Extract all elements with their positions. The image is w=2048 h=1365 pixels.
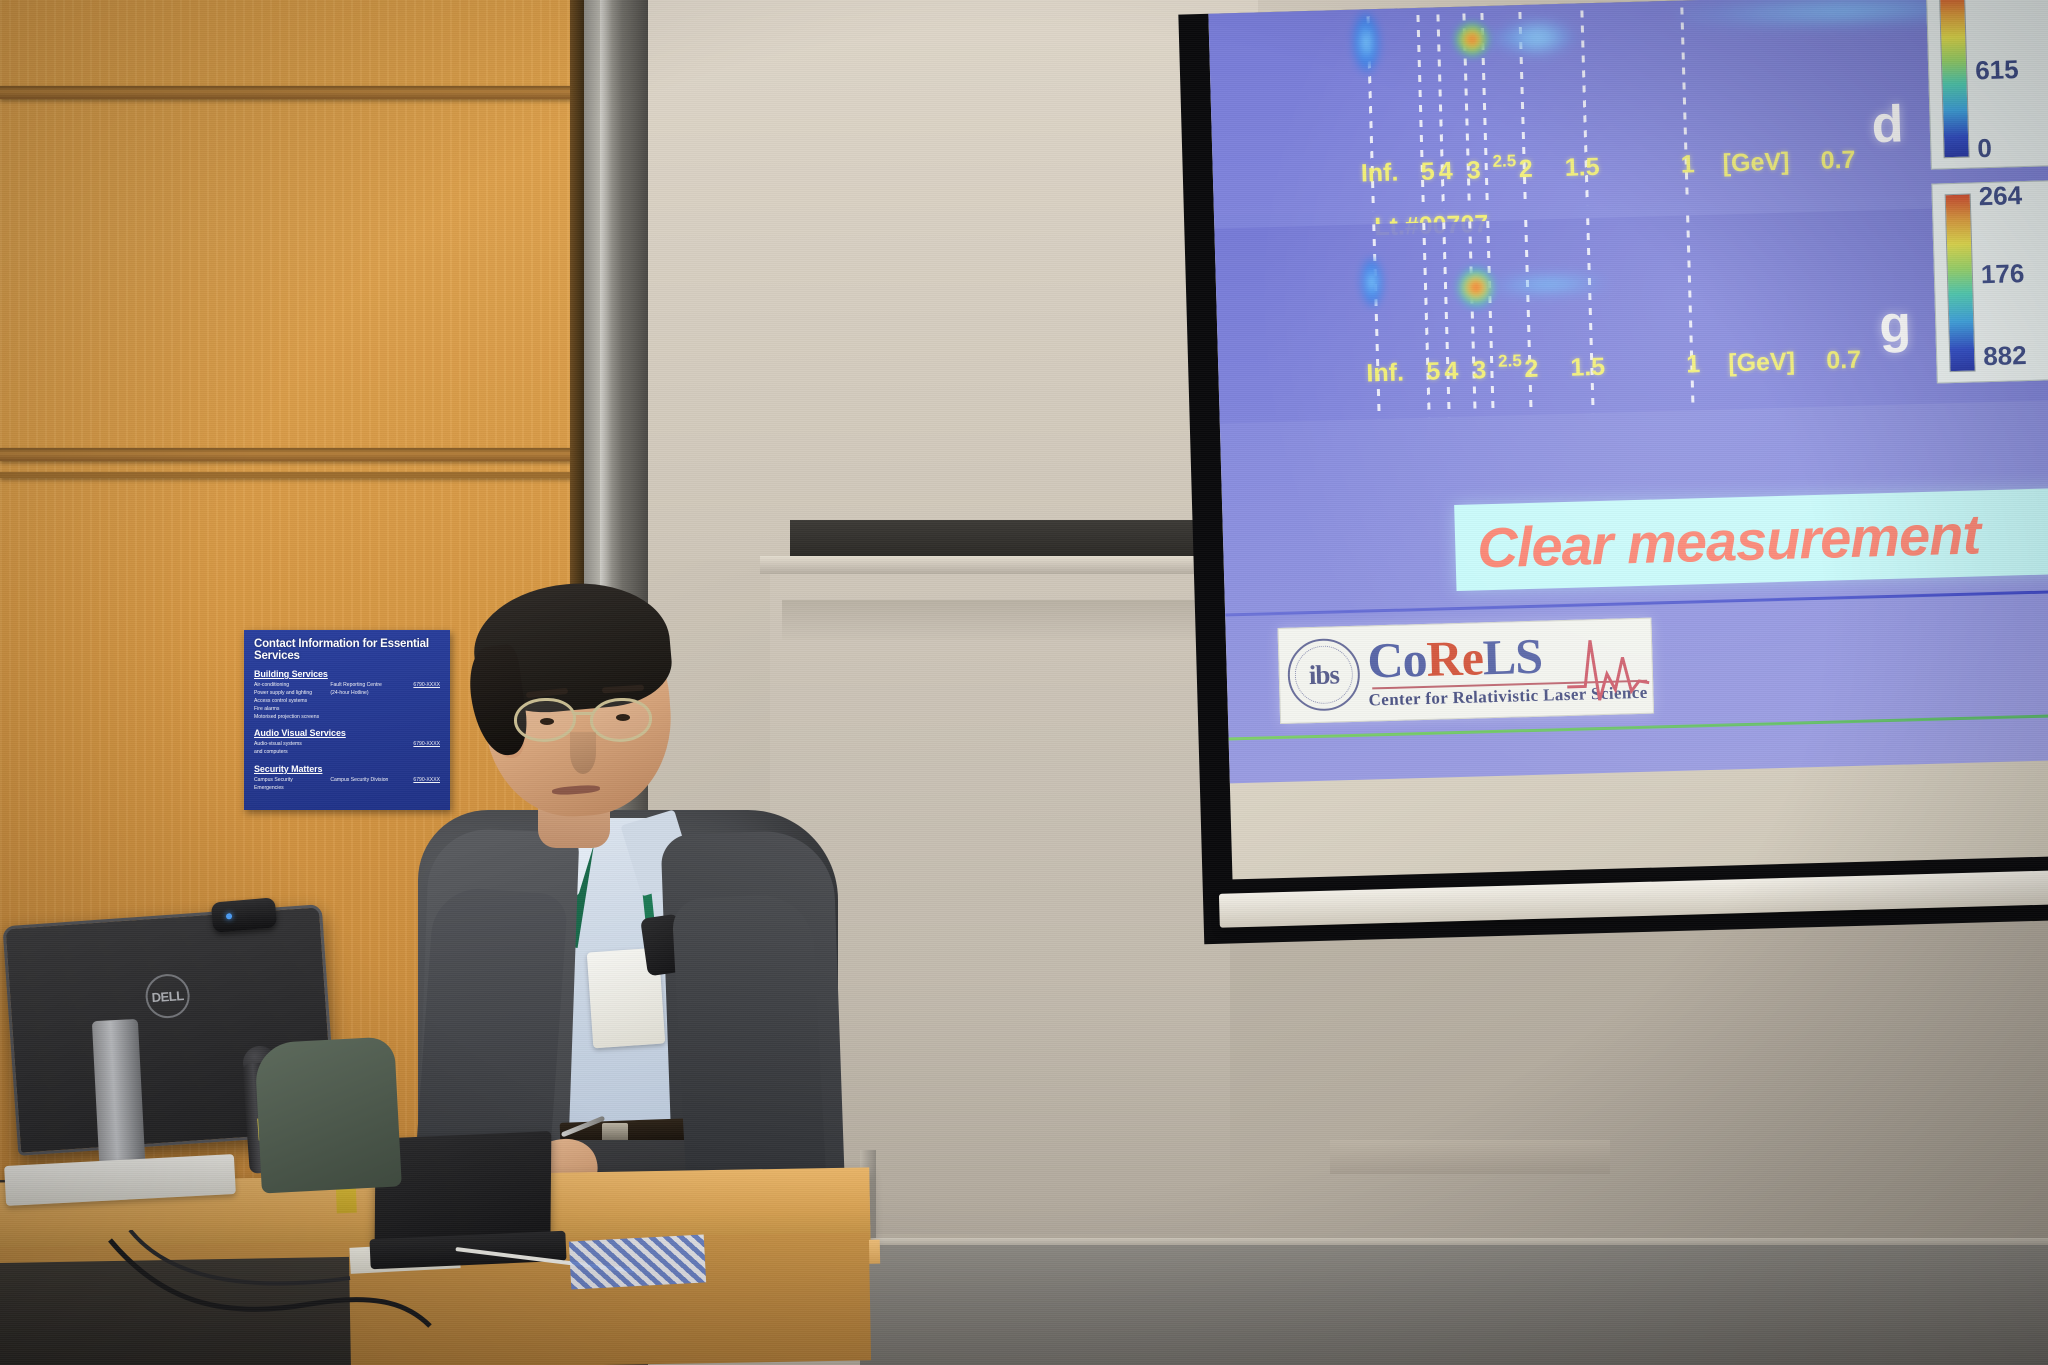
eye-right (616, 714, 630, 721)
desk-blue-mat (569, 1235, 706, 1290)
poster-row: Access control systems (254, 698, 440, 706)
screen-surface: Lt.#00707 Inf. 5 4 3 2.5 2 1.5 1 [GeV] 0… (1208, 0, 2048, 879)
essential-services-poster: Contact Information for Essential Servic… (244, 630, 450, 810)
poster-contact: (24-hour Hotline) (330, 690, 400, 698)
banner-text: Clear measurement (1476, 501, 1980, 580)
poster-service: and computers (254, 749, 332, 757)
poster-service: Emergencies (254, 785, 332, 793)
tablet-device[interactable] (375, 1131, 552, 1244)
axis-tick-25-g: 2.5 (1498, 351, 1522, 372)
poster-contact (330, 741, 400, 749)
axis-tick-1-d: 1 (1680, 150, 1695, 179)
poster-row: Audio-visual systems 6790-XXXX (254, 741, 440, 749)
slide-content: Lt.#00707 Inf. 5 4 3 2.5 2 1.5 1 [GeV] 0… (1208, 0, 2048, 783)
colorbar-bottom: 264 176 882 (1931, 180, 2048, 384)
poster-row: Power supply and lighting (24-hour Hotli… (254, 690, 440, 698)
poster-heading-security: Security Matters (254, 764, 440, 774)
wood-seam-mid-lower (0, 472, 578, 478)
corels-part-co: Co (1367, 631, 1428, 689)
corels-part-ls: LS (1482, 628, 1543, 686)
chair (254, 1036, 402, 1193)
wood-seam-mid (0, 448, 578, 461)
poster-contact: Campus Security Division (330, 777, 400, 785)
axis-tick-5-d: 5 (1420, 157, 1435, 186)
wall-patch (1330, 1140, 1610, 1174)
ecg-pulse-icon (1564, 633, 1652, 709)
colorbar-max-top: 122 (1973, 0, 2017, 6)
colorbar-ticks-bottom: 264 176 882 (1976, 181, 2048, 381)
poster-row: and computers (254, 749, 440, 757)
poster-row: Emergencies (254, 785, 440, 793)
colorbar-ticks-top: 122 615 0 (1971, 0, 2048, 167)
back-wall-upper (648, 0, 1258, 560)
poster-contact: Fault Reporting Centre (330, 682, 400, 690)
monitor-stand (92, 1019, 146, 1181)
axis-tick-2-d: 2 (1518, 155, 1533, 184)
cable-bundle (100, 1230, 460, 1350)
poster-heading-building: Building Services (254, 669, 440, 679)
axis-tick-2-g: 2 (1524, 355, 1539, 384)
poster-service: Air-conditioning (254, 682, 330, 690)
axis-tick-15-g: 1.5 (1570, 353, 1606, 383)
wainscot-panel (860, 1245, 2048, 1365)
axis-tick-inf-g: Inf. (1366, 358, 1404, 388)
slide-divider-blue (1225, 590, 2048, 617)
colorbar-max-bottom: 264 (1978, 180, 2022, 212)
corels-logo: ibs CoReLS Center for Relativistic Laser… (1278, 618, 1655, 724)
axis-tick-4-g: 4 (1444, 357, 1459, 386)
poster-heading-av: Audio Visual Services (254, 728, 440, 738)
axis-tick-3-g: 3 (1472, 356, 1487, 385)
colorbar-min-top: 0 (1977, 133, 1992, 164)
webcam (211, 897, 277, 932)
axis-tick-4-d: 4 (1438, 157, 1453, 186)
axis-tick-07-d: 0.7 (1820, 146, 1856, 176)
axis-tick-07-g: 0.7 (1826, 346, 1862, 376)
poster-row: Motorised projection screens (254, 714, 440, 722)
axis-tick-1-g: 1 (1686, 350, 1701, 379)
poster-row: Fire alarms (254, 706, 440, 714)
poster-service: Access control systems (254, 698, 332, 706)
axis-tick-inf-d: Inf. (1360, 158, 1398, 188)
poster-service: Fire alarms (254, 706, 332, 714)
webcam-led-icon (226, 913, 233, 920)
axis-tick-25-d: 2.5 (1492, 151, 1516, 172)
nose (570, 732, 596, 774)
photo-scene: Lt.#00707 Inf. 5 4 3 2.5 2 1.5 1 [GeV] 0… (0, 0, 2048, 1365)
poster-row: Campus Security Campus Security Division… (254, 777, 440, 785)
poster-service: Audio-visual systems (254, 741, 330, 749)
colorbar-mid-top: 615 (1975, 54, 2019, 86)
axis-tick-3-d: 3 (1466, 156, 1481, 185)
corels-part-re: Re (1426, 629, 1484, 687)
wall-dark-band (790, 520, 1230, 560)
projection-screen: Lt.#00707 Inf. 5 4 3 2.5 2 1.5 1 [GeV] 0… (1178, 0, 2048, 944)
poster-service: Campus Security (254, 777, 330, 785)
glasses-bridge (574, 712, 594, 715)
ibs-logo-icon: ibs (1287, 638, 1361, 712)
eye-left (540, 718, 554, 725)
colorbar-top: 122 615 0 (1926, 0, 2048, 170)
poster-title: Contact Information for Essential Servic… (254, 638, 440, 662)
slide-banner: Clear measurement (1454, 487, 2048, 591)
wall-ledge (760, 556, 1240, 574)
colorbar-gradient-top (1939, 0, 1970, 158)
ibs-logo-text: ibs (1308, 659, 1339, 691)
colorbar-gradient-bottom (1945, 194, 1976, 373)
axis-tick-5-g: 5 (1426, 357, 1441, 386)
corels-wordmark: CoReLS Center for Relativistic Laser Sci… (1367, 629, 1648, 711)
axis-tick-15-d: 1.5 (1564, 153, 1600, 183)
poster-service: Motorised projection screens (254, 714, 332, 722)
colorbar-low-bottom: 882 (1983, 340, 2027, 372)
panel-letter-g: g (1879, 298, 1912, 351)
panel-letter-d: d (1871, 98, 1904, 151)
poster-service: Power supply and lighting (254, 690, 330, 698)
wood-seam-upper (0, 86, 578, 99)
axis-unit-d: [GeV] (1722, 148, 1789, 179)
colorbar-mid-bottom: 176 (1980, 258, 2024, 290)
axis-unit-g: [GeV] (1728, 347, 1795, 378)
poster-row: Air-conditioning Fault Reporting Centre … (254, 682, 440, 690)
dell-logo-icon: DELL (144, 973, 191, 1020)
